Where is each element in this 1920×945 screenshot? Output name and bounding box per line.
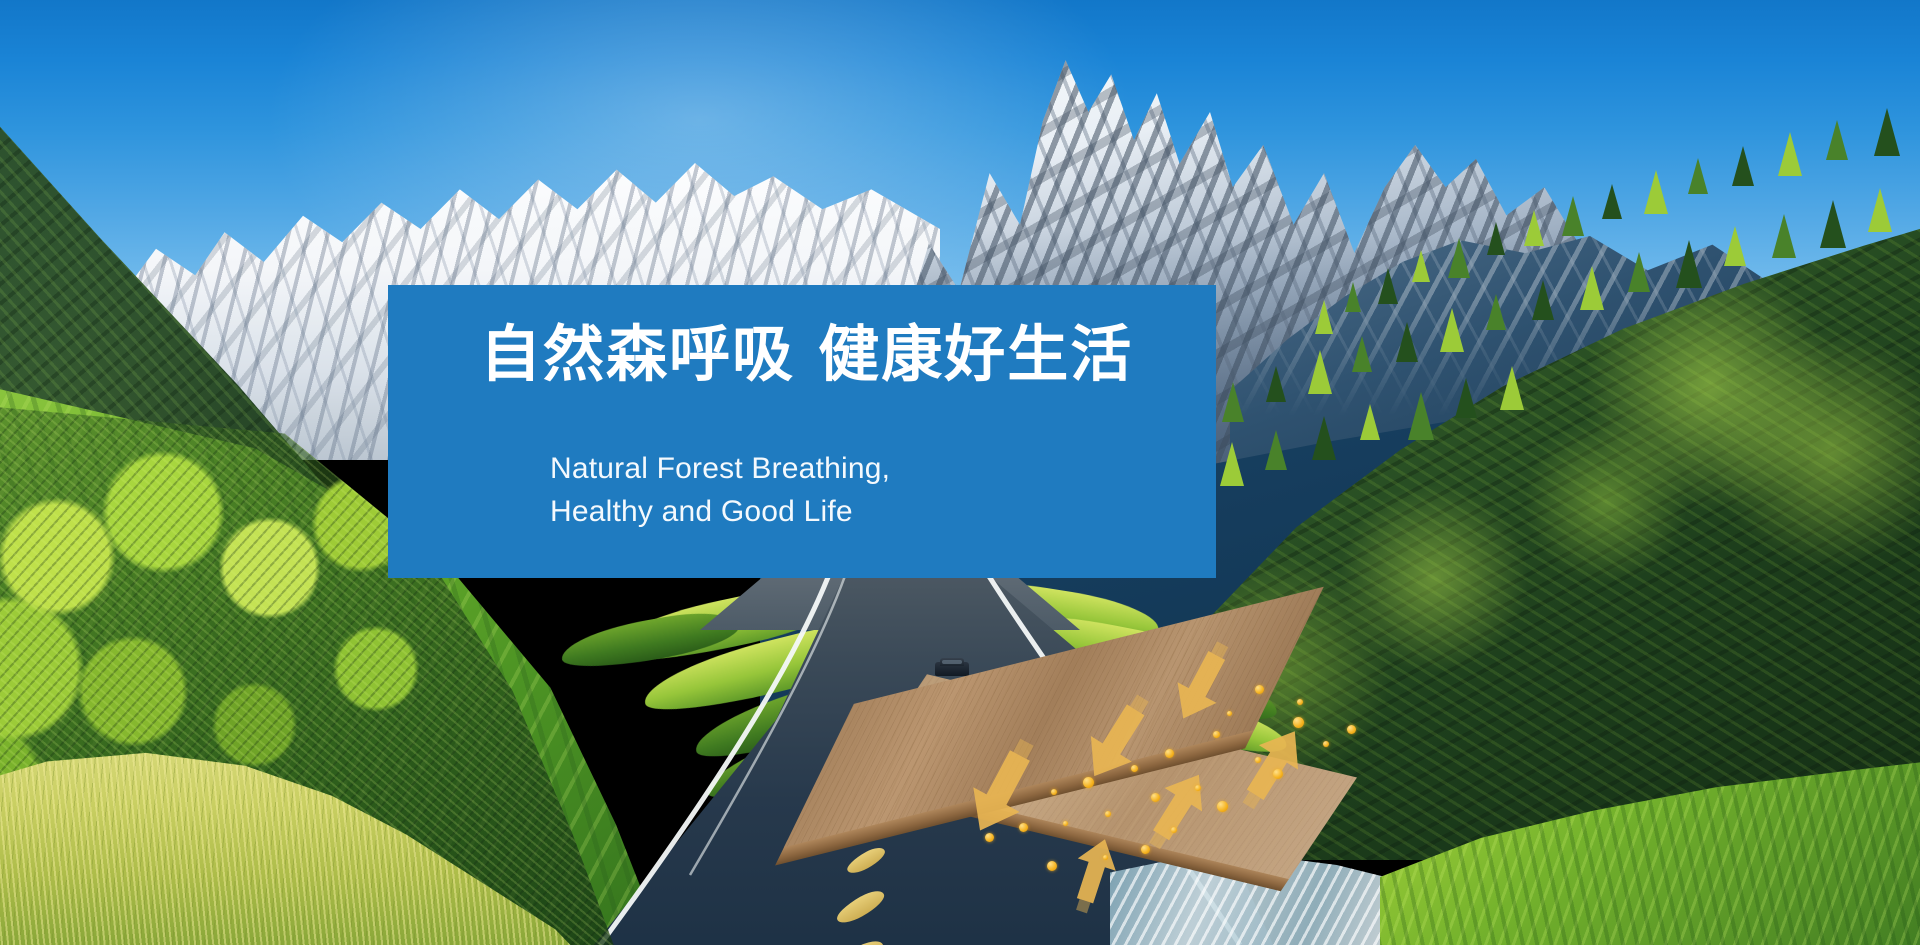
conifer-tree [1524,210,1544,246]
airflow-particle [1171,827,1177,833]
conifer-tree [1266,366,1286,402]
conifer-tree [1345,282,1361,312]
headline-panel: 自然森呼吸 健康好生活 Natural Forest Breathing, He… [388,285,1216,578]
conifer-tree [1580,266,1604,310]
airflow-particle [1141,845,1150,854]
conifer-tree [1412,250,1430,282]
conifer-tree [1315,300,1333,334]
conifer-tree [1868,188,1892,232]
conifer-tree [1352,336,1372,372]
airflow-particle [1217,801,1228,812]
conifer-tree [1724,226,1746,266]
conifer-tree [1265,430,1287,470]
conifer-tree [1360,404,1380,440]
conifer-tree [1308,350,1332,394]
conifer-tree [1628,252,1650,292]
conifer-tree [1487,222,1505,255]
airflow-particle [1255,757,1261,763]
airflow-arrow [1229,719,1315,818]
conifer-tree [1732,146,1754,186]
conifer-tree [1602,184,1622,219]
subtitle-line-2: Healthy and Good Life [550,491,890,534]
airflow-particle [1105,811,1111,817]
subtitle-line-1: Natural Forest Breathing, [550,452,890,485]
conifer-tree [1222,382,1244,422]
conifer-tree [1455,378,1477,418]
conifer-tree [1448,238,1470,278]
conifer-tree [1532,280,1554,320]
airflow-particle [1323,741,1329,747]
conifer-tree [1688,158,1708,194]
airflow-arrow [1063,833,1124,918]
conifer-tree [1676,240,1702,288]
airflow-particle [1347,725,1356,734]
headline-title-zh: 自然森呼吸 健康好生活 [480,321,1133,389]
airflow-particle [1051,789,1057,795]
airflow-arrow [1074,685,1164,789]
airflow-particle [1297,699,1303,705]
conifer-tree [1220,442,1244,486]
airflow-arrow [1136,763,1218,858]
car-windshield [942,660,962,664]
conifer-tree [1500,366,1524,410]
conifer-tree [1644,170,1668,214]
headline-subtitle-en: Natural Forest Breathing, Healthy and Go… [550,448,890,533]
conifer-tree [1378,268,1398,304]
airflow-particle [1151,793,1160,802]
airflow-particle [1227,711,1232,716]
airflow-particle [1083,777,1094,788]
conifer-tree [1408,392,1434,440]
airflow-particle [1255,685,1264,694]
airflow-particle [1273,769,1283,779]
conifer-tree [1486,294,1506,330]
airflow-arrow [957,730,1050,843]
airflow-particle [1047,861,1057,871]
conifer-tree [1396,322,1418,362]
wooden-flooring-planks [955,665,1475,945]
airflow-particle [985,833,994,842]
conifer-tree [1820,200,1846,248]
hero-banner: 自然森呼吸 健康好生活 Natural Forest Breathing, He… [0,0,1920,945]
conifer-tree [1562,196,1584,236]
airflow-particle [1063,821,1068,826]
conifer-tree [1772,214,1796,258]
airflow-particle [1213,731,1220,738]
airflow-particle [1165,749,1174,758]
airflow-particle [1131,765,1138,772]
airflow-arrow-group [955,665,1475,945]
conifer-tree [1312,416,1336,460]
airflow-particle [1293,717,1304,728]
airflow-particle [1103,855,1108,860]
airflow-particle [1195,785,1201,791]
conifer-tree [1778,132,1802,176]
airflow-particle [1019,823,1028,832]
conifer-tree [1874,108,1900,156]
conifer-tree [1440,308,1464,352]
conifer-tree [1826,120,1848,160]
